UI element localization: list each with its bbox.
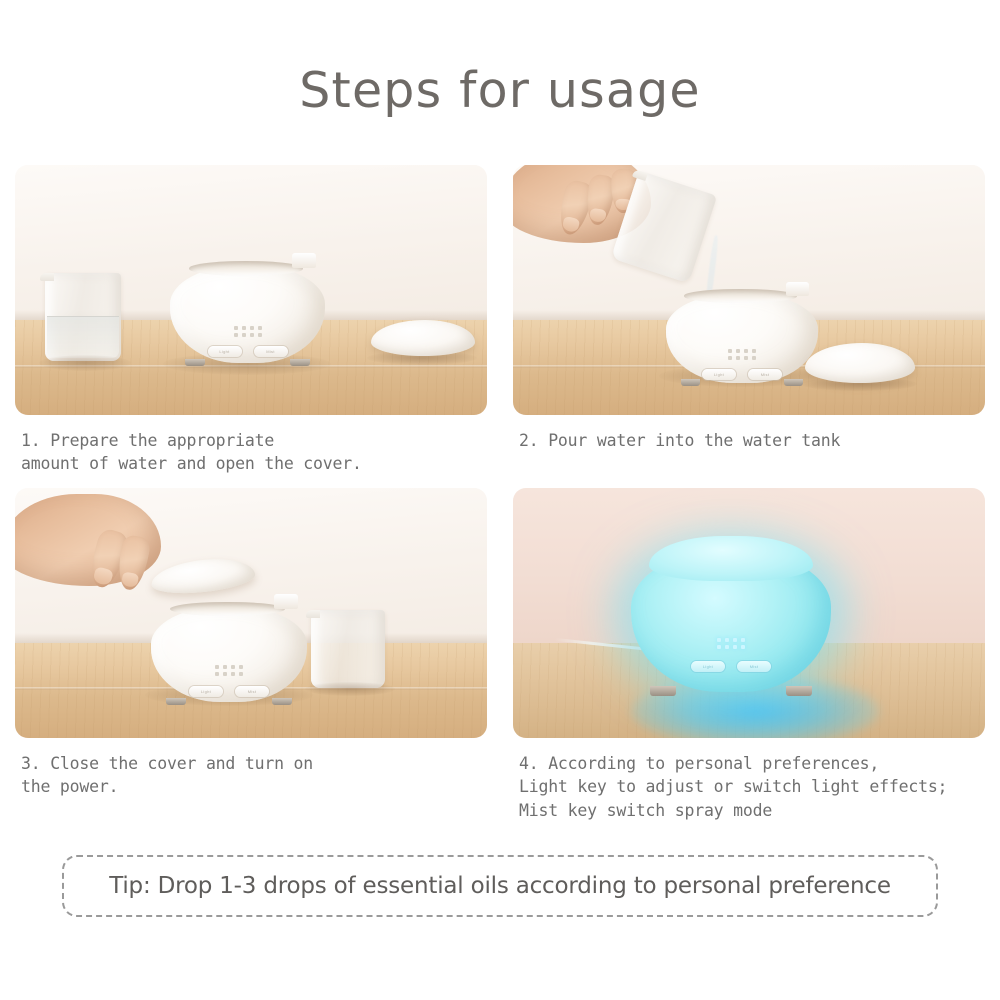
step-photo-4: Light Mist xyxy=(513,488,985,738)
step-card-4: Light Mist 4. According to personal pref… xyxy=(513,488,985,822)
mist-button[interactable]: Mist xyxy=(235,686,269,697)
tip-text: Tip: Drop 1-3 drops of essential oils ac… xyxy=(109,873,891,899)
led-indicator-grid xyxy=(215,665,243,676)
led-dot xyxy=(725,638,729,642)
light-button[interactable]: Light xyxy=(208,346,242,357)
infographic-page: Steps for usage xyxy=(0,0,1000,1000)
diffuser-unit: Light Mist xyxy=(666,293,818,383)
led-dot xyxy=(736,349,740,353)
led-dot xyxy=(752,356,756,360)
light-button[interactable]: Light xyxy=(691,661,725,672)
led-dot xyxy=(733,638,737,642)
diffuser-unit: Light Mist xyxy=(170,265,325,363)
led-dot xyxy=(717,638,721,642)
mist-button[interactable]: Mist xyxy=(748,369,782,380)
measuring-cup xyxy=(311,610,385,688)
foot-right xyxy=(786,686,811,696)
led-dot xyxy=(744,356,748,360)
mist-button[interactable]: Mist xyxy=(737,661,771,672)
led-dot xyxy=(215,665,219,669)
foot-left xyxy=(166,698,186,705)
led-dot xyxy=(231,672,235,676)
led-dot xyxy=(250,333,254,337)
led-dot xyxy=(736,356,740,360)
foot-right xyxy=(290,359,310,366)
step-caption-3: 3. Close the cover and turn on the power… xyxy=(15,752,487,799)
foot-left xyxy=(681,379,700,385)
diffuser-feet xyxy=(163,698,294,705)
step-card-1: Light Mist 1. Prepare the appropriate am… xyxy=(15,165,487,476)
diffuser-feet xyxy=(647,686,815,696)
step-photo-1: Light Mist xyxy=(15,165,487,415)
diffuser-open-rim xyxy=(684,289,796,303)
led-dot xyxy=(239,672,243,676)
led-indicator-grid xyxy=(234,326,262,337)
diffuser-open-rim xyxy=(189,261,304,276)
control-button-row: Light Mist xyxy=(189,686,269,697)
diffuser-water-inlet xyxy=(274,594,297,608)
diffuser-unit-glowing: Light Mist xyxy=(631,550,831,692)
led-dot xyxy=(741,638,745,642)
hand-placing-cover xyxy=(15,494,161,586)
led-dot xyxy=(223,672,227,676)
led-dot xyxy=(744,349,748,353)
led-dot xyxy=(741,645,745,649)
cup-shadow xyxy=(305,682,395,696)
cup-water xyxy=(47,316,119,358)
page-title: Steps for usage xyxy=(0,62,1000,119)
led-dot xyxy=(215,672,219,676)
led-dot xyxy=(242,326,246,330)
diffuser-unit: Light Mist xyxy=(151,606,307,702)
fingernail xyxy=(589,208,606,223)
led-dot xyxy=(733,645,737,649)
control-button-row: Light Mist xyxy=(702,369,782,380)
led-dot xyxy=(234,326,238,330)
led-indicator-grid-lit xyxy=(717,638,745,649)
led-dot xyxy=(258,333,262,337)
step-caption-1: 1. Prepare the appropriate amount of wat… xyxy=(15,429,487,476)
led-indicator-grid xyxy=(728,349,756,360)
step-caption-4: 4. According to personal preferences, Li… xyxy=(513,752,985,822)
fingernail xyxy=(121,571,140,588)
led-dot xyxy=(728,356,732,360)
light-button[interactable]: Light xyxy=(189,686,223,697)
steps-grid: Light Mist 1. Prepare the appropriate am… xyxy=(15,165,985,822)
light-button[interactable]: Light xyxy=(702,369,736,380)
led-dot xyxy=(231,665,235,669)
diffuser-feet xyxy=(182,359,312,366)
foot-right xyxy=(272,698,292,705)
step-photo-2: Light Mist xyxy=(513,165,985,415)
control-button-row: Light Mist xyxy=(208,346,288,357)
led-dot xyxy=(234,333,238,337)
diffuser-water-inlet xyxy=(786,282,809,296)
cup-shadow xyxy=(39,355,131,371)
diffuser-cover xyxy=(371,320,475,356)
led-dot xyxy=(717,645,721,649)
led-dot xyxy=(258,326,262,330)
led-dot xyxy=(223,665,227,669)
tip-box: Tip: Drop 1-3 drops of essential oils ac… xyxy=(62,855,938,917)
led-dot xyxy=(250,326,254,330)
led-dot xyxy=(242,333,246,337)
led-dot xyxy=(239,665,243,669)
diffuser-feet xyxy=(678,379,806,385)
led-dot xyxy=(725,645,729,649)
step-photo-3: Light Mist xyxy=(15,488,487,738)
mist-button[interactable]: Mist xyxy=(254,346,288,357)
control-button-row: Light Mist xyxy=(691,661,771,672)
diffuser-cover xyxy=(805,343,915,383)
led-dot xyxy=(728,349,732,353)
foot-left xyxy=(650,686,675,696)
step-caption-2: 2. Pour water into the water tank xyxy=(513,429,985,452)
foot-left xyxy=(185,359,205,366)
led-dot xyxy=(752,349,756,353)
diffuser-water-inlet xyxy=(292,253,315,268)
step-card-3: Light Mist 3. Close the cover and turn o… xyxy=(15,488,487,822)
measuring-cup xyxy=(45,273,121,361)
step-card-2: Light Mist 2. Pour water into the water … xyxy=(513,165,985,476)
